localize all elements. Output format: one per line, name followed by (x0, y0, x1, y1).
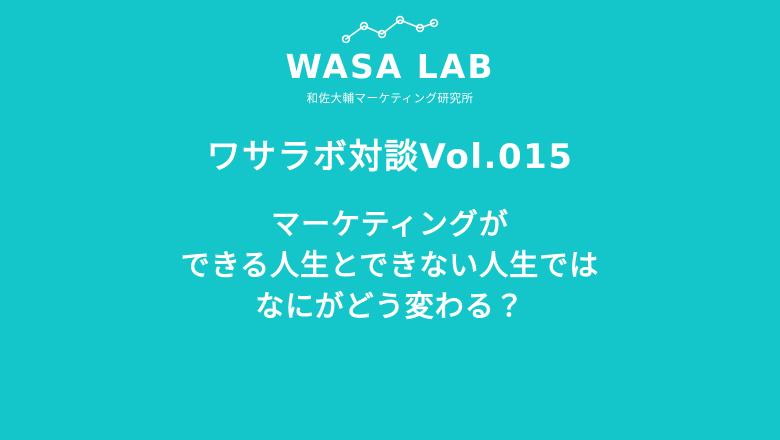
title-block: ワサラボ対談Vol.015 (0, 139, 780, 176)
subtitle-line-1: マーケティングが (0, 204, 780, 245)
line-chart-logo-mark (338, 14, 442, 48)
subtitle-block: マーケティングが できる人生とできない人生では なにがどう変わる？ (0, 204, 780, 328)
subtitle-line-2: できる人生とできない人生では (0, 245, 780, 286)
subtitle-line-3: なにがどう変わる？ (0, 286, 780, 327)
title-slide: WASA LAB 和佐大輔マーケティング研究所 ワサラボ対談Vol.015 マー… (0, 0, 780, 440)
logo-wordmark: WASA LAB (286, 50, 495, 83)
main-title: ワサラボ対談Vol.015 (0, 139, 780, 176)
logo-tagline: 和佐大輔マーケティング研究所 (306, 93, 473, 105)
logo-block: WASA LAB 和佐大輔マーケティング研究所 (0, 14, 780, 105)
